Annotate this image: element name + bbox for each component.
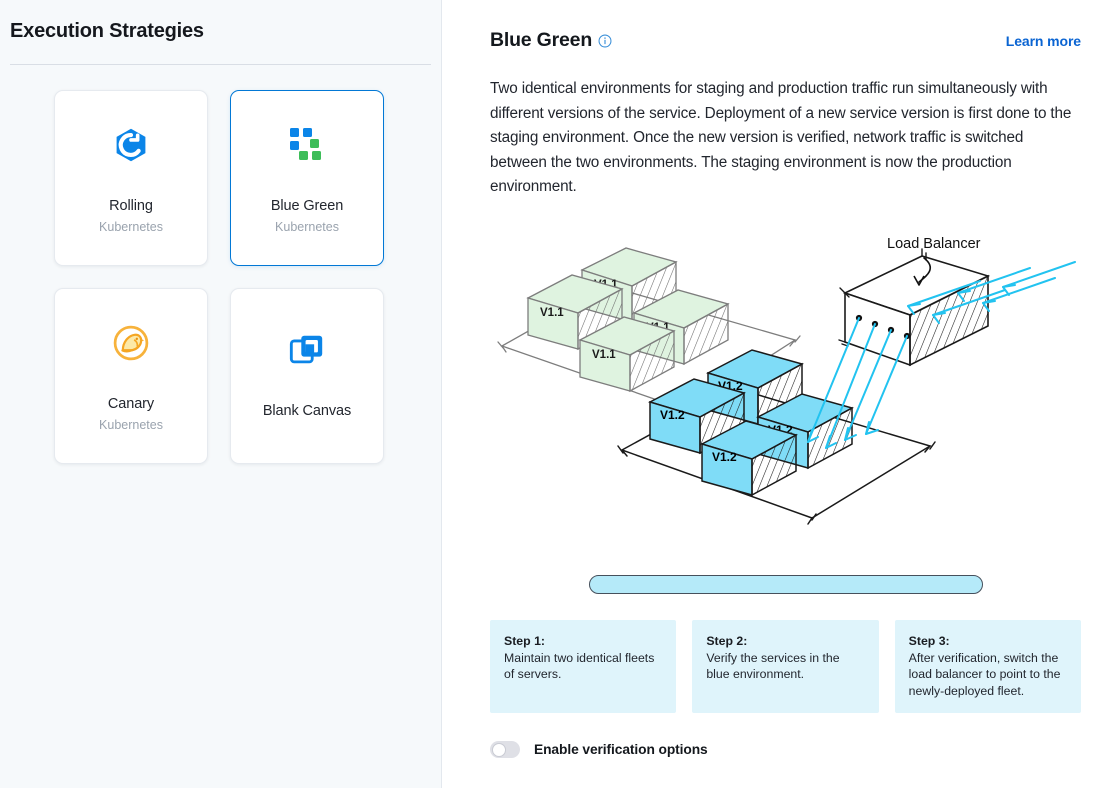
svg-text:V1.1: V1.1 <box>592 349 616 361</box>
step-title: Step 1: <box>504 634 662 648</box>
illustration-svg: V1.1 V1.1 V1.1 <box>490 218 1090 593</box>
strategy-card-label: Blank Canvas <box>263 403 351 419</box>
step-title: Step 3: <box>909 634 1067 648</box>
svg-text:V1.2: V1.2 <box>660 408 685 422</box>
load-balancer-box <box>839 249 988 365</box>
canary-bird-icon <box>111 320 151 366</box>
strategy-card-label: Canary <box>108 396 154 412</box>
strategy-card-rolling[interactable]: Rolling Kubernetes <box>54 90 208 266</box>
enable-verification-label: Enable verification options <box>534 742 708 757</box>
step-text: After verification, switch the load bala… <box>909 650 1067 700</box>
blue-green-dots-icon <box>290 122 324 168</box>
load-balancer-label: Load Balancer <box>887 236 981 252</box>
strategy-card-sublabel: Kubernetes <box>99 220 163 234</box>
harness-hexagon-icon <box>113 122 149 168</box>
svg-text:V1.2: V1.2 <box>712 450 737 464</box>
blank-canvas-icon <box>288 327 326 373</box>
strategy-description: Two identical environments for staging a… <box>490 77 1081 200</box>
info-icon[interactable] <box>598 34 612 48</box>
step-title: Step 2: <box>706 634 864 648</box>
strategy-card-grid: Rolling Kubernetes Blue Green Kubern <box>0 65 441 464</box>
strategy-card-sublabel: Kubernetes <box>99 418 163 432</box>
step-box-2: Step 2: Verify the services in the blue … <box>692 620 878 714</box>
detail-title: Blue Green <box>490 29 592 52</box>
steps-row: Step 1: Maintain two identical fleets of… <box>490 620 1081 714</box>
strategy-card-blank-canvas[interactable]: Blank Canvas <box>230 288 384 464</box>
step-text: Verify the services in the blue environm… <box>706 650 864 683</box>
execution-strategies-sidebar: Execution Strategies Rolling Kubernetes <box>0 0 442 788</box>
toggle-knob <box>492 743 506 757</box>
app-root: Execution Strategies Rolling Kubernetes <box>0 0 1119 788</box>
detail-title-group: Blue Green <box>490 29 612 52</box>
step-box-1: Step 1: Maintain two identical fleets of… <box>490 620 676 714</box>
strategy-card-canary[interactable]: Canary Kubernetes <box>54 288 208 464</box>
strategy-detail-panel: Blue Green Learn more Two identical envi… <box>442 0 1119 788</box>
svg-text:V1.1: V1.1 <box>540 307 564 319</box>
enable-verification-toggle[interactable] <box>490 741 520 758</box>
strategy-card-label: Rolling <box>109 198 153 214</box>
learn-more-link[interactable]: Learn more <box>1006 33 1081 49</box>
blue-green-illustration: V1.1 V1.1 V1.1 <box>490 218 1081 593</box>
verification-options-row: Enable verification options <box>490 741 1081 758</box>
strategy-card-sublabel: Kubernetes <box>275 220 339 234</box>
detail-header: Blue Green Learn more <box>490 0 1081 52</box>
step-box-3: Step 3: After verification, switch the l… <box>895 620 1081 714</box>
strategy-card-label: Blue Green <box>271 198 343 214</box>
page-title: Execution Strategies <box>0 0 441 43</box>
step-text: Maintain two identical fleets of servers… <box>504 650 662 683</box>
strategy-card-blue-green[interactable]: Blue Green Kubernetes <box>230 90 384 266</box>
